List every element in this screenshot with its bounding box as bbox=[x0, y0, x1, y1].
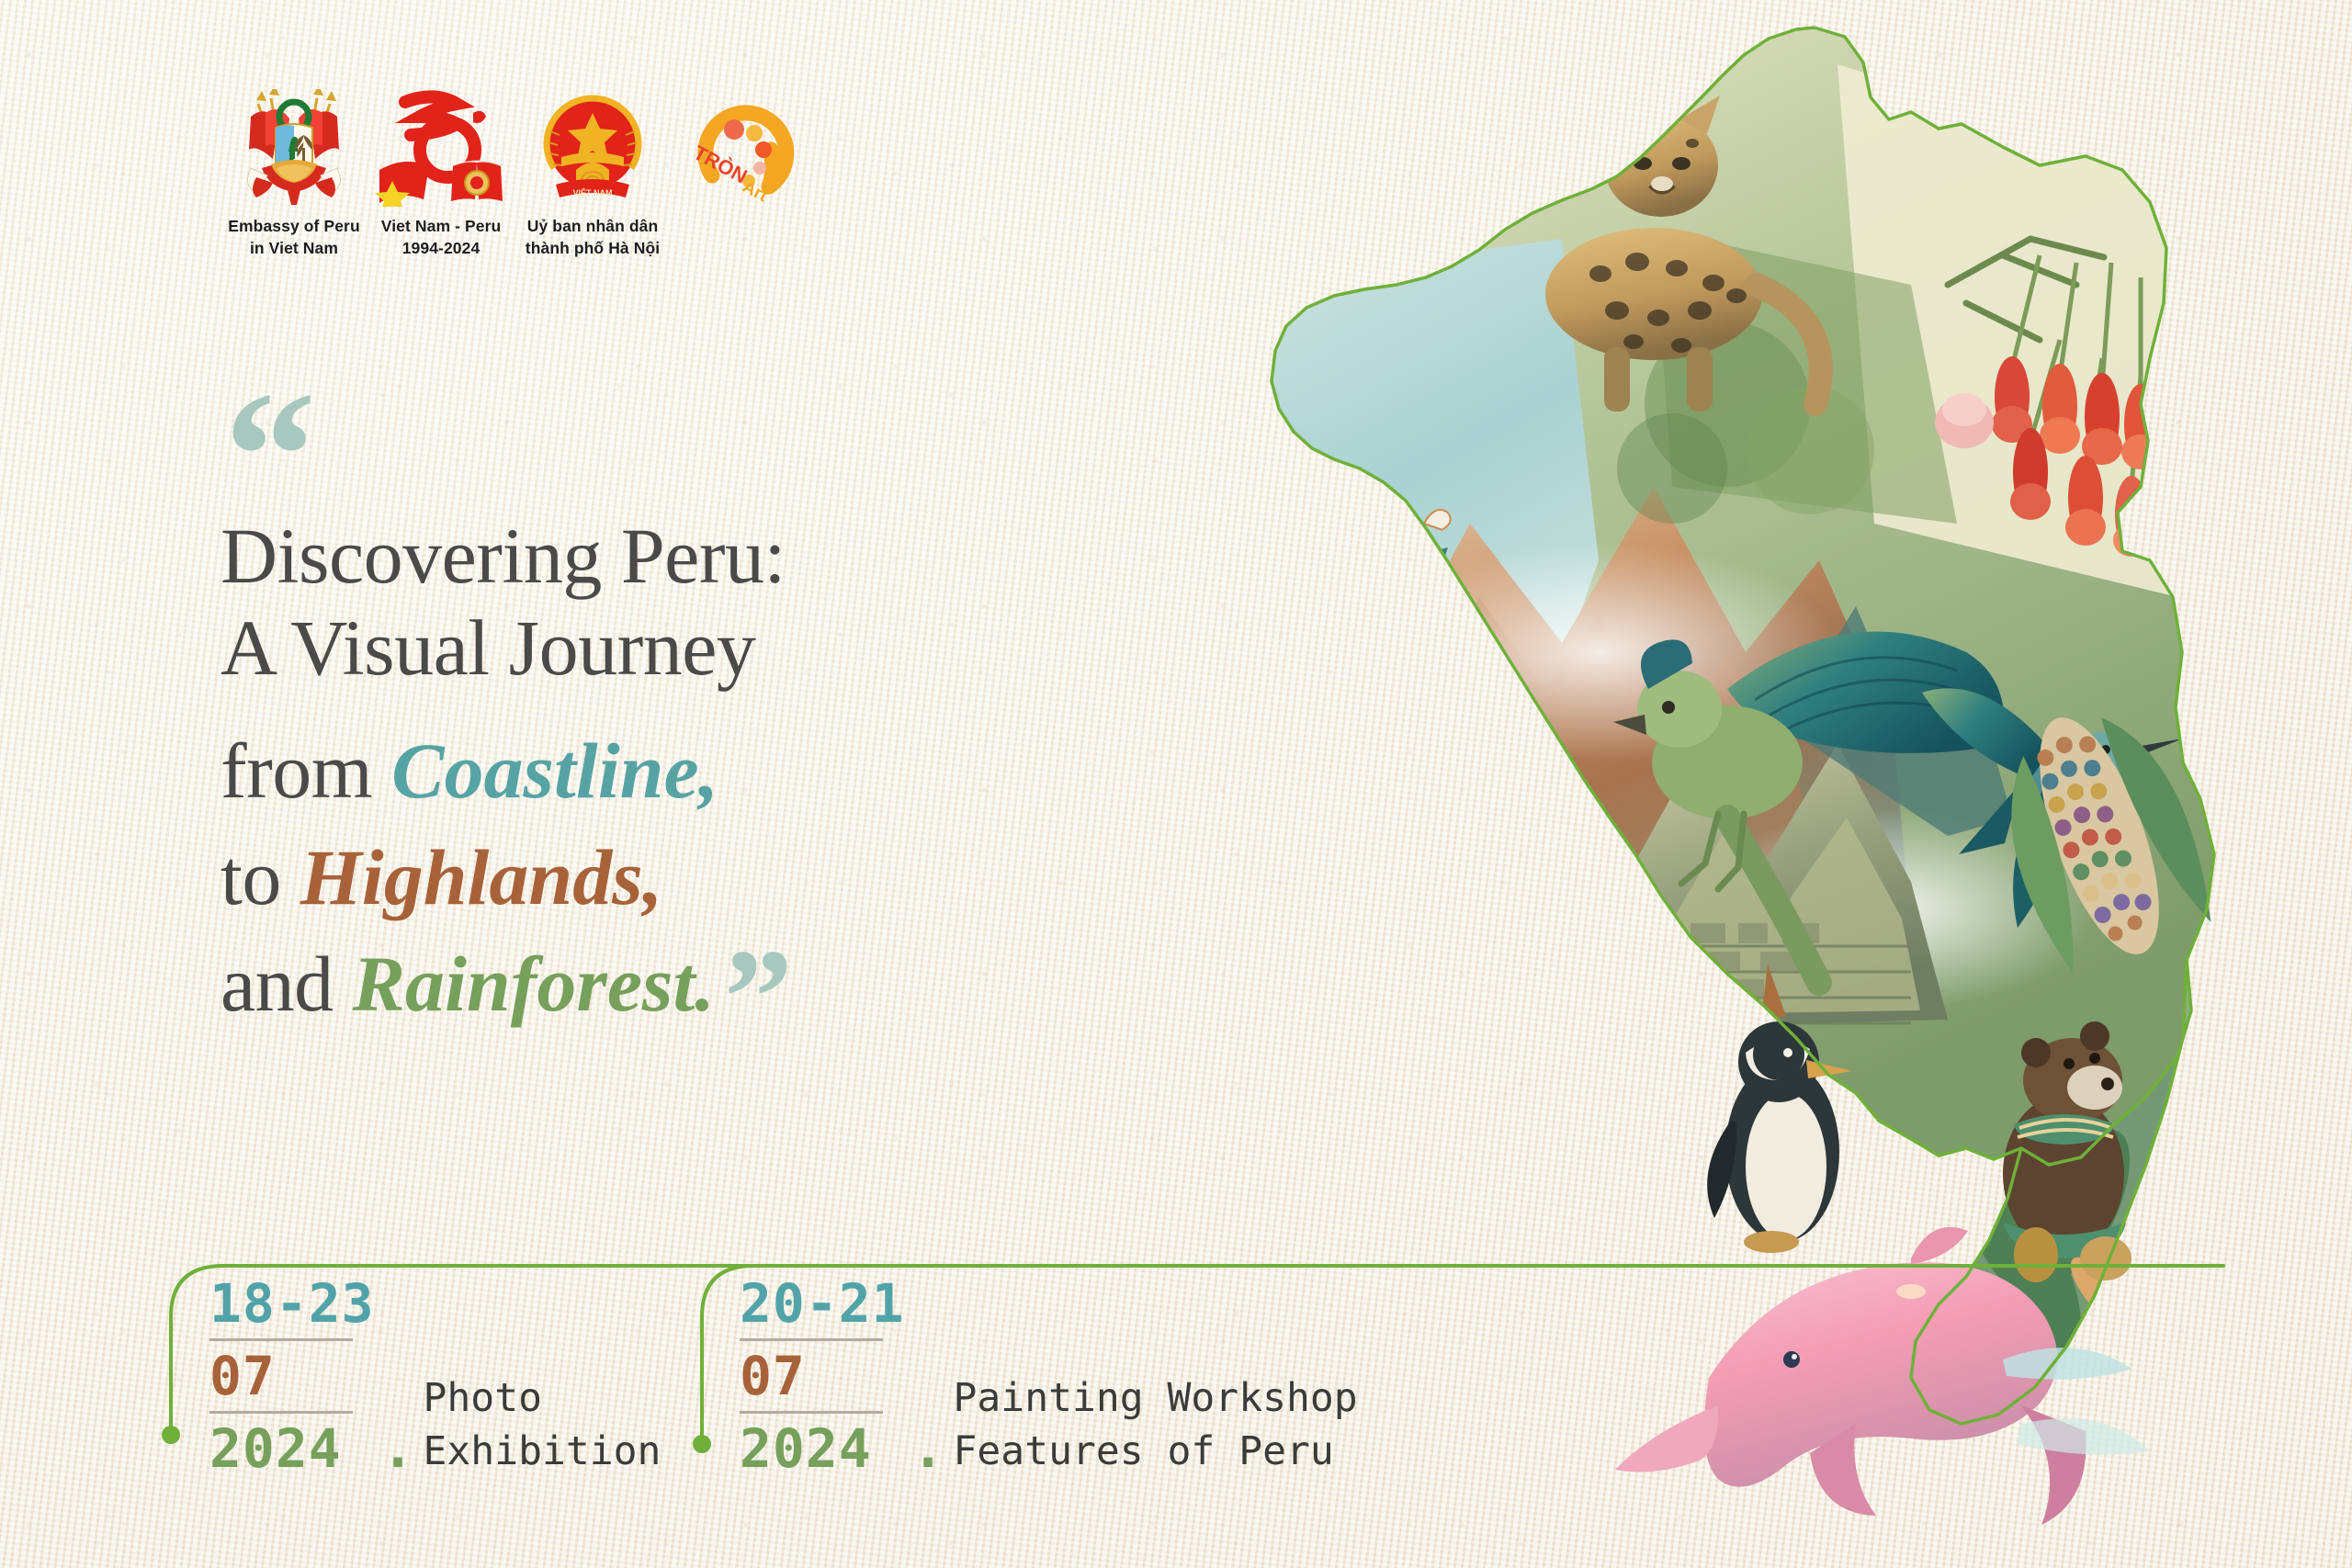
headline-line-1: Discovering Peru: bbox=[220, 516, 1249, 595]
date-divider-bottom bbox=[740, 1411, 883, 1414]
headline-block: “ Discovering Peru: A Visual Journey fro… bbox=[220, 411, 1249, 1023]
date-divider-top bbox=[740, 1338, 883, 1341]
headline-line-2: A Visual Journey bbox=[220, 608, 1249, 687]
logo-caption: Uỷ ban nhân dân thành phố Hà Nội bbox=[526, 216, 660, 259]
headline-line-4: to Highlands, bbox=[220, 838, 1249, 917]
logo-caption: Viet Nam - Peru 1994-2024 bbox=[381, 216, 502, 259]
white-lily-illustration bbox=[1309, 891, 1580, 1167]
logo-caption-line2: 1994-2024 bbox=[402, 239, 481, 257]
headline-line-5: and Rainforest.” bbox=[220, 944, 1249, 1023]
logo-caption-line1: Embassy of Peru bbox=[228, 217, 360, 235]
logo-caption-line1: Uỷ ban nhân dân bbox=[527, 217, 658, 235]
date-divider-top bbox=[209, 1338, 353, 1341]
event-date-stack: 20-21 07 2024 bbox=[740, 1277, 905, 1475]
date-divider-bottom bbox=[209, 1411, 353, 1414]
logo-vietnam-peru-30: Viet Nam - Peru 1994-2024 bbox=[367, 87, 514, 259]
logo-caption-line2: thành phố Hà Nội bbox=[526, 239, 660, 257]
hummingbird-lower-left-illustration bbox=[1303, 969, 1488, 1126]
open-quote-mark: “ bbox=[224, 401, 316, 512]
headline-accent-coastline: Coastline, bbox=[391, 727, 718, 815]
butterflies-illustration bbox=[1277, 507, 1453, 954]
logo-caption-line1: Viet Nam - Peru bbox=[381, 217, 502, 235]
event-days: 18-23 bbox=[209, 1277, 375, 1330]
close-quote-mark: ” bbox=[724, 921, 793, 1074]
headline-accent-rainforest: Rainforest. bbox=[353, 940, 715, 1028]
hummingbird-upper-left-illustration bbox=[1255, 547, 1479, 761]
event-year: 2024 bbox=[209, 1422, 342, 1475]
event-date-stack: 18-23 07 2024 bbox=[209, 1277, 375, 1475]
svg-text:VIỆT NAM: VIỆT NAM bbox=[572, 187, 612, 197]
headline-line-3-prefix: from bbox=[220, 727, 391, 815]
event-photo-exhibition[interactable]: 18-23 07 2024 . Photo Exhibition bbox=[209, 1277, 661, 1475]
event-title-line2: Exhibition bbox=[424, 1425, 661, 1478]
event-month: 07 bbox=[740, 1349, 806, 1403]
event-title-line1: Photo bbox=[424, 1371, 661, 1425]
anniversary-30-icon bbox=[372, 87, 510, 207]
event-separator-dot: . bbox=[382, 1422, 414, 1475]
event-year: 2024 bbox=[740, 1422, 872, 1475]
peru-coat-of-arms-icon bbox=[234, 87, 354, 207]
svg-text:TRÒN: TRÒN bbox=[690, 141, 752, 187]
poster-canvas: Embassy of Peru in Viet Nam bbox=[0, 0, 2352, 1568]
logo-embassy-of-peru: Embassy of Peru in Viet Nam bbox=[220, 87, 367, 259]
logo-caption-line2: in Viet Nam bbox=[250, 239, 338, 257]
logo-tron-art: TRÒN Art bbox=[671, 87, 818, 207]
logo-caption: Embassy of Peru in Viet Nam bbox=[228, 216, 360, 259]
event-title: Photo Exhibition bbox=[424, 1371, 661, 1478]
event-title: Painting Workshop Features of Peru bbox=[954, 1371, 1358, 1478]
vietnam-national-emblem-icon: VIỆT NAM bbox=[536, 87, 650, 207]
tron-art-icon: TRÒN Art bbox=[684, 87, 804, 207]
headline-line-3: from Coastline, bbox=[220, 731, 1249, 810]
event-title-line2: Features of Peru bbox=[954, 1425, 1358, 1478]
headline-line-5-prefix: and bbox=[220, 940, 353, 1028]
logo-hanoi-peoples-committee: VIỆT NAM Uỷ ban nhân dân thành phố Hà Nộ… bbox=[514, 87, 671, 259]
event-painting-workshop[interactable]: 20-21 07 2024 . Painting Workshop Featur… bbox=[740, 1277, 1358, 1475]
headline-line-4-prefix: to bbox=[220, 833, 300, 921]
event-title-line1: Painting Workshop bbox=[954, 1371, 1358, 1425]
logo-row: Embassy of Peru in Viet Nam bbox=[220, 87, 818, 259]
event-month: 07 bbox=[209, 1349, 276, 1403]
headline-accent-highlands: Highlands, bbox=[300, 833, 662, 921]
event-days: 20-21 bbox=[740, 1277, 905, 1330]
event-separator-dot: . bbox=[912, 1422, 944, 1475]
